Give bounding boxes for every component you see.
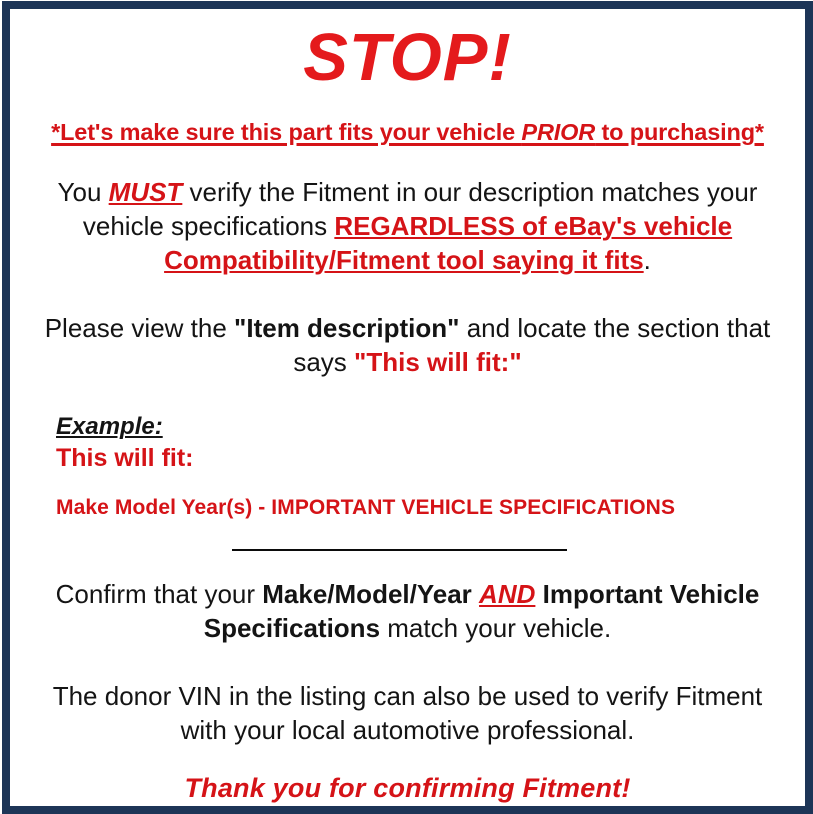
- item-description-label: "Item description": [234, 313, 459, 343]
- subtitle-emphasis: PRIOR: [521, 119, 595, 145]
- confirm-space-1: [472, 579, 479, 609]
- notice-content: STOP! *Let's make sure this part fits yo…: [10, 9, 805, 806]
- fitment-notice-card: STOP! *Let's make sure this part fits yo…: [2, 1, 813, 814]
- make-model-year-label: Make/Model/Year: [262, 579, 472, 609]
- confirm-lead: Confirm that your: [56, 579, 263, 609]
- subtitle-banner: *Let's make sure this part fits your veh…: [24, 119, 791, 146]
- must-emphasis: MUST: [109, 177, 183, 207]
- example-spec-line: Make Model Year(s) - IMPORTANT VEHICLE S…: [56, 495, 791, 520]
- this-will-fit-quote: "This will fit:": [354, 347, 522, 377]
- confirm-tail: match your vehicle.: [380, 613, 611, 643]
- example-label: Example:: [56, 413, 791, 441]
- paragraph-must-verify: You MUST verify the Fitment in our descr…: [24, 176, 791, 277]
- must-lead: You: [58, 177, 109, 207]
- must-tail: .: [644, 245, 651, 275]
- description-lead: Please view the: [45, 313, 234, 343]
- paragraph-donor-vin: The donor VIN in the listing can also be…: [24, 680, 791, 748]
- section-divider: [232, 549, 567, 551]
- subtitle-part2: to purchasing*: [595, 119, 764, 145]
- and-emphasis: AND: [479, 579, 535, 609]
- paragraph-item-description: Please view the "Item description" and l…: [24, 312, 791, 380]
- example-fit-heading: This will fit:: [56, 443, 791, 473]
- confirm-space-2: [535, 579, 542, 609]
- example-block: Example: This will fit: Make Model Year(…: [24, 413, 791, 520]
- subtitle-part1: *Let's make sure this part fits your veh…: [51, 119, 521, 145]
- thank-you-line: Thank you for confirming Fitment!: [24, 773, 791, 804]
- confirm-section: Confirm that your Make/Model/Year AND Im…: [24, 578, 791, 646]
- section-divider-wrap: [24, 546, 791, 558]
- paragraph-confirm: Confirm that your Make/Model/Year AND Im…: [24, 578, 791, 646]
- page-title: STOP!: [24, 9, 791, 93]
